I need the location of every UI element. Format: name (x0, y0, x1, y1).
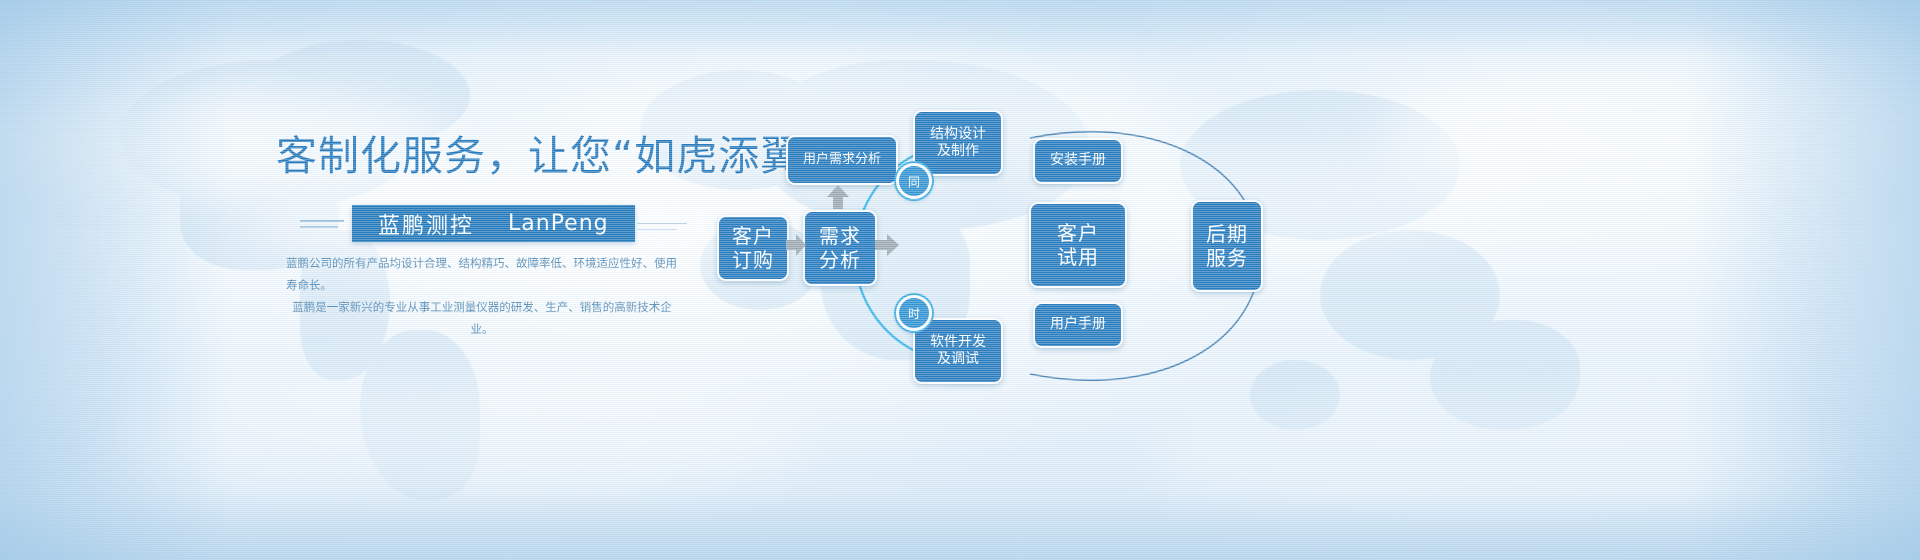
node-label: 用户手册 (1042, 316, 1114, 333)
decorative-lines-right (637, 223, 687, 224)
decorative-lines-left (300, 220, 344, 228)
node-install-manual[interactable]: 安装手册 (1033, 138, 1123, 184)
node-after-service[interactable]: 后期 服务 (1191, 200, 1263, 292)
node-label: 用户需求分析 (795, 152, 889, 168)
node-label: 结构设计 及制作 (922, 126, 994, 160)
subtitle-line-2: 蓝鹏是一家新兴的专业从事工业测量仪器的研发、生产、销售的高新技术企业。 (286, 296, 678, 340)
subtitle-line-1: 蓝鹏公司的所有产品均设计合理、结构精巧、故障率低、环境适应性好、使用寿命长。 (286, 252, 678, 296)
node-user-demand-analysis[interactable]: 用户需求分析 (786, 135, 898, 185)
node-label: 安装手册 (1042, 152, 1114, 169)
banner-root: 客制化服务，让您“如虎添翼” 蓝鹏测控 LanPeng 蓝鹏公司的所有产品均设计… (0, 0, 1920, 560)
node-label: 需求 分析 (811, 224, 869, 273)
subtitle-block: 蓝鹏公司的所有产品均设计合理、结构精巧、故障率低、环境适应性好、使用寿命长。 蓝… (286, 252, 678, 340)
node-label: 客户 订购 (724, 224, 782, 273)
node-label: 软件开发 及调试 (922, 334, 994, 368)
arrow-analysis-to-user-demand (825, 183, 851, 209)
node-customer-order[interactable]: 客户 订购 (717, 215, 789, 281)
node-demand-analysis[interactable]: 需求 分析 (803, 210, 877, 286)
badge-label: 同 (908, 173, 920, 190)
page-title: 客制化服务，让您“如虎添翼” (276, 134, 696, 179)
arrow-order-to-analysis (786, 232, 806, 258)
brand-bar: 蓝鹏测控 LanPeng (352, 205, 635, 242)
badge-tong: 同 (896, 163, 932, 199)
node-customer-trial[interactable]: 客户 试用 (1029, 202, 1127, 288)
brand-row: 蓝鹏测控 LanPeng (300, 205, 687, 242)
node-label: 客户 试用 (1049, 221, 1107, 270)
arrow-analysis-to-cycle (875, 232, 899, 258)
brand-name-en: LanPeng (508, 211, 609, 236)
headline-block: 客制化服务，让您“如虎添翼” (276, 134, 696, 179)
badge-label: 时 (908, 305, 920, 322)
node-user-manual[interactable]: 用户手册 (1033, 302, 1123, 348)
brand-name-cn: 蓝鹏测控 (378, 208, 474, 240)
process-flow-diagram: 用户需求分析 客户 订购 需求 分析 结构设计 及制作 软件开发 及调试 安装手… (700, 90, 1700, 420)
node-structure-design[interactable]: 结构设计 及制作 (913, 110, 1003, 176)
badge-shi: 时 (896, 295, 932, 331)
node-software-development[interactable]: 软件开发 及调试 (913, 318, 1003, 384)
node-label: 后期 服务 (1198, 222, 1256, 271)
